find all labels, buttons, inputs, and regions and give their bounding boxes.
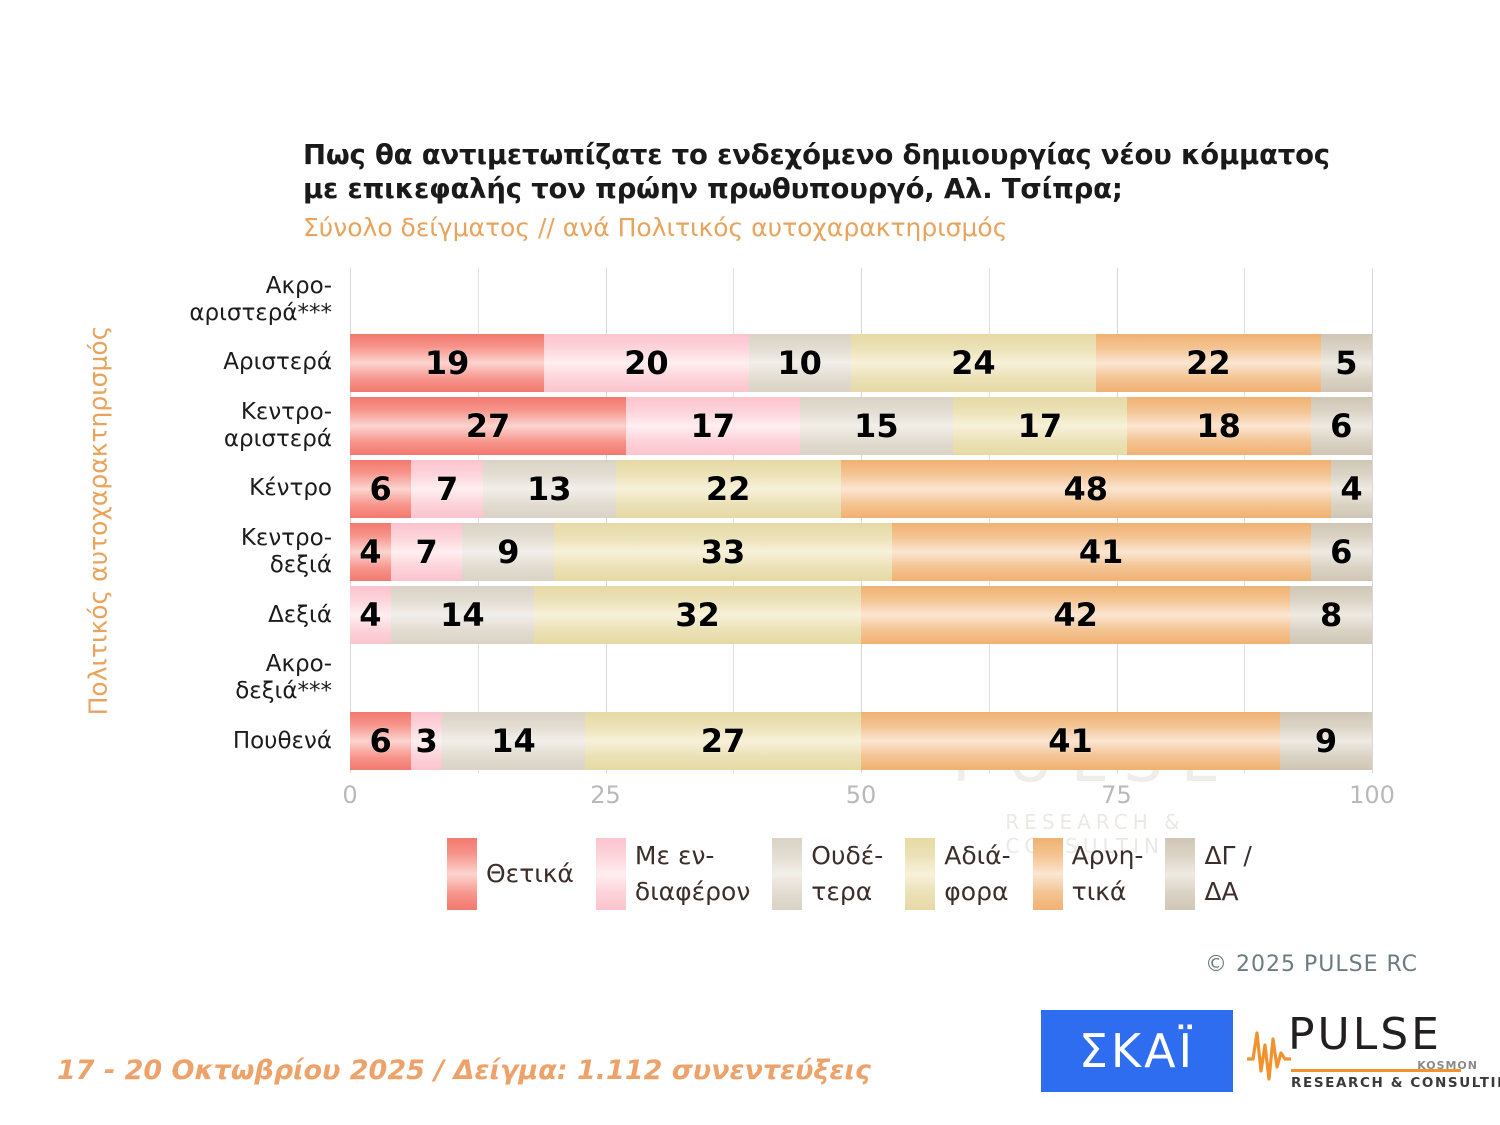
legend-item-0[interactable]: Θετικά (447, 838, 574, 910)
bar-value-label: 27 (466, 410, 511, 442)
chart-plot-area: PULSE RESEARCH & CONSULTING 192010242252… (350, 268, 1372, 773)
legend-label-2: Ουδέ- τερα (811, 838, 883, 910)
chart-legend: ΘετικάΜε εν- διαφέρονΟυδέ- τεραΑδιά- φορ… (447, 838, 1274, 910)
bar-value-label: 48 (1064, 473, 1109, 505)
bar-row-5: 41432428 (350, 586, 1372, 644)
y-axis-label-line: Κέντρο (142, 475, 332, 502)
gridline-100 (1372, 268, 1373, 773)
bar-value-label: 41 (1048, 725, 1093, 757)
bar-value-label: 7 (416, 536, 438, 568)
y-axis-label-line: Δεξιά (142, 602, 332, 629)
bar-segment-Θετικά[interactable]: 6 (350, 460, 411, 518)
bar-segment-Αρνη-τικά[interactable]: 41 (861, 712, 1280, 770)
bar-value-label: 8 (1320, 599, 1342, 631)
y-axis-label-line: Πουθενά (142, 728, 332, 755)
bar-segment-Αρνη-τικά[interactable]: 22 (1096, 334, 1321, 392)
y-axis-label-line: δεξιά*** (142, 678, 332, 705)
stacked-bar-rows: 1920102422527171517186671322484479334164… (350, 268, 1372, 773)
bar-value-label: 41 (1079, 536, 1124, 568)
bar-row-7: 631427419 (350, 712, 1372, 770)
bar-value-label: 4 (1340, 473, 1362, 505)
x-axis: 0255075100 (350, 773, 1372, 813)
x-axis-tick-100: 100 (1349, 781, 1395, 809)
bar-segment-Ουδέ-τερα[interactable]: 15 (800, 397, 953, 455)
bar-segment-Με-εν-διαφέρον[interactable]: 7 (391, 523, 463, 581)
y-axis-category-labels: Ακρο-αριστερά***ΑριστεράΚεντρο-αριστεράΚ… (150, 268, 340, 773)
legend-swatch-3 (905, 838, 935, 910)
pulse-logo: PULSE KOSMON RESEARCH & CONSULTING (1245, 1007, 1480, 1097)
bar-value-label: 17 (1018, 410, 1063, 442)
bar-segment-Αδιά-φορα[interactable]: 24 (851, 334, 1096, 392)
bar-row-0 (350, 271, 1372, 329)
bar-segment-ΔΓ--ΔΑ[interactable]: 6 (1311, 523, 1372, 581)
bar-value-label: 4 (359, 599, 381, 631)
x-axis-tick-25: 25 (590, 781, 621, 809)
bar-segment-Θετικά[interactable]: 6 (350, 712, 411, 770)
bar-value-label: 6 (370, 725, 392, 757)
bar-segment-Ουδέ-τερα[interactable]: 14 (391, 586, 534, 644)
legend-swatch-2 (772, 838, 802, 910)
bar-value-label: 24 (951, 347, 996, 379)
y-axis-label-line: Ακρο- (142, 651, 332, 678)
bar-value-label: 33 (701, 536, 746, 568)
y-axis-label-line: Ακρο- (142, 273, 332, 300)
x-axis-tick-50: 50 (846, 781, 877, 809)
y-axis-label-6: Ακρο-δεξιά*** (142, 651, 332, 705)
bar-value-label: 10 (777, 347, 822, 379)
legend-swatch-0 (447, 838, 477, 910)
legend-swatch-5 (1165, 838, 1195, 910)
bar-row-1: 19201024225 (350, 334, 1372, 392)
bar-value-label: 6 (1330, 536, 1352, 568)
x-axis-tick-75: 75 (1101, 781, 1132, 809)
bar-segment-ΔΓ--ΔΑ[interactable]: 9 (1280, 712, 1372, 770)
bar-segment-Θετικά[interactable]: 27 (350, 397, 626, 455)
bar-segment-Αδιά-φορα[interactable]: 17 (953, 397, 1127, 455)
bar-segment-Αρνη-τικά[interactable]: 42 (861, 586, 1290, 644)
bar-segment-Αρνη-τικά[interactable]: 48 (841, 460, 1332, 518)
legend-swatch-1 (596, 838, 626, 910)
bar-value-label: 32 (675, 599, 720, 631)
bar-segment-ΔΓ--ΔΑ[interactable]: 4 (1331, 460, 1372, 518)
bar-value-label: 6 (370, 473, 392, 505)
y-axis-label-line: Αριστερά (142, 349, 332, 376)
bar-segment-Με-εν-διαφέρον[interactable]: 3 (411, 712, 442, 770)
bar-segment-Ουδέ-τερα[interactable]: 10 (749, 334, 851, 392)
bar-value-label: 17 (691, 410, 736, 442)
bar-segment-Αδιά-φορα[interactable]: 22 (616, 460, 841, 518)
bar-value-label: 6 (1330, 410, 1352, 442)
bar-value-label: 5 (1335, 347, 1357, 379)
skai-logo-text: ΣΚΑΪ (1079, 1024, 1195, 1078)
pulse-logo-tagline: RESEARCH & CONSULTING (1291, 1075, 1500, 1091)
bar-value-label: 42 (1053, 599, 1098, 631)
bar-value-label: 14 (491, 725, 536, 757)
bar-segment-Με-εν-διαφέρον[interactable]: 4 (350, 586, 391, 644)
bar-value-label: 9 (497, 536, 519, 568)
legend-swatch-4 (1033, 838, 1063, 910)
bar-value-label: 4 (359, 536, 381, 568)
y-axis-label-2: Κεντρο-αριστερά (142, 399, 332, 453)
y-axis-label-line: αριστερά (142, 426, 332, 453)
bar-row-2: 27171517186 (350, 397, 1372, 455)
y-axis-title: Πολιτικός αυτοχαρακτηρισμός (78, 268, 118, 773)
bar-value-label: 7 (436, 473, 458, 505)
bar-value-label: 22 (1186, 347, 1231, 379)
bar-value-label: 13 (527, 473, 572, 505)
chart-title-line-2: με επικεφαλής τον πρώην πρωθυπουργό, Αλ.… (303, 172, 1303, 206)
bar-segment-Θετικά[interactable]: 19 (350, 334, 544, 392)
bar-segment-ΔΓ--ΔΑ[interactable]: 5 (1321, 334, 1372, 392)
pulse-logo-rule (1291, 1069, 1461, 1072)
y-axis-label-5: Δεξιά (142, 602, 332, 629)
y-axis-label-line: Κεντρο- (142, 399, 332, 426)
y-axis-label-1: Αριστερά (142, 349, 332, 376)
bar-value-label: 27 (701, 725, 746, 757)
y-axis-title-label: Πολιτικός αυτοχαρακτηρισμός (84, 326, 113, 716)
legend-label-5: ΔΓ / ΔΑ (1204, 838, 1251, 910)
copyright-text: © 2025 PULSE RC (1205, 952, 1418, 977)
bar-segment-Αδιά-φορα[interactable]: 32 (534, 586, 861, 644)
pulse-waveform-icon (1245, 1019, 1293, 1091)
chart-title-line-1: Πως θα αντιμετωπίζατε το ενδεχόμενο δημι… (303, 138, 1303, 172)
bar-value-label: 9 (1315, 725, 1337, 757)
bar-value-label: 19 (425, 347, 470, 379)
bar-value-label: 18 (1196, 410, 1241, 442)
bar-row-3: 671322484 (350, 460, 1372, 518)
pulse-logo-wordmark: PULSE (1288, 1009, 1442, 1060)
legend-label-3: Αδιά- φορα (944, 838, 1010, 910)
y-axis-label-7: Πουθενά (142, 728, 332, 755)
bar-segment-Ουδέ-τερα[interactable]: 13 (483, 460, 616, 518)
bar-segment-Ουδέ-τερα[interactable]: 14 (442, 712, 585, 770)
bar-row-4: 47933416 (350, 523, 1372, 581)
bar-row-6 (350, 649, 1372, 707)
bar-segment-ΔΓ--ΔΑ[interactable]: 8 (1290, 586, 1372, 644)
legend-label-0: Θετικά (486, 856, 574, 892)
bar-value-label: 20 (624, 347, 669, 379)
bar-value-label: 22 (706, 473, 751, 505)
legend-item-1[interactable]: Με εν- διαφέρον (596, 838, 750, 910)
chart-subtitle: Σύνολο δείγματος // ανά Πολιτικός αυτοχα… (303, 210, 1303, 246)
y-axis-label-4: Κεντρο-δεξιά (142, 525, 332, 579)
y-axis-label-line: αριστερά*** (142, 300, 332, 327)
x-axis-tick-0: 0 (342, 781, 357, 809)
legend-label-1: Με εν- διαφέρον (635, 838, 750, 910)
title-block: Πως θα αντιμετωπίζατε το ενδεχόμενο δημι… (303, 138, 1303, 246)
bar-segment-Αδιά-φορα[interactable]: 33 (554, 523, 891, 581)
bar-value-label: 15 (854, 410, 899, 442)
footer-fieldwork-info: 17 - 20 Οκτωβρίου 2025 / Δείγμα: 1.112 σ… (57, 1055, 871, 1086)
bar-value-label: 14 (440, 599, 485, 631)
skai-logo: ΣΚΑΪ (1041, 1010, 1233, 1092)
bar-segment-Ουδέ-τερα[interactable]: 9 (462, 523, 554, 581)
bar-segment-Θετικά[interactable]: 4 (350, 523, 391, 581)
y-axis-label-line: Κεντρο- (142, 525, 332, 552)
legend-item-3[interactable]: Αδιά- φορα (905, 838, 1010, 910)
legend-item-2[interactable]: Ουδέ- τερα (772, 838, 883, 910)
bar-segment-Με-εν-διαφέρον[interactable]: 7 (411, 460, 483, 518)
y-axis-label-0: Ακρο-αριστερά*** (142, 273, 332, 327)
bar-segment-Αρνη-τικά[interactable]: 18 (1127, 397, 1311, 455)
y-axis-label-line: δεξιά (142, 552, 332, 579)
bar-segment-Αρνη-τικά[interactable]: 41 (892, 523, 1311, 581)
y-axis-label-3: Κέντρο (142, 475, 332, 502)
bar-segment-ΔΓ--ΔΑ[interactable]: 6 (1311, 397, 1372, 455)
legend-label-4: Αρνη- τικά (1072, 838, 1144, 910)
bar-segment-Με-εν-διαφέρον[interactable]: 17 (626, 397, 800, 455)
legend-item-5[interactable]: ΔΓ / ΔΑ (1165, 838, 1251, 910)
bar-value-label: 3 (416, 725, 438, 757)
legend-item-4[interactable]: Αρνη- τικά (1033, 838, 1144, 910)
bar-segment-Αδιά-φορα[interactable]: 27 (585, 712, 861, 770)
bar-segment-Με-εν-διαφέρον[interactable]: 20 (544, 334, 748, 392)
